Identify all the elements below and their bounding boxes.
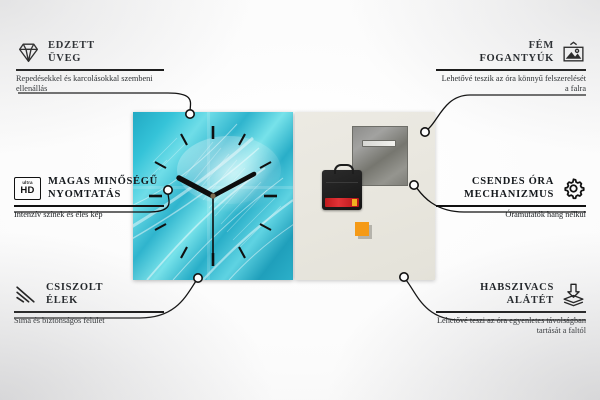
feature-description: Lehetővé teszik az óra könnyű felszerelé… bbox=[436, 74, 586, 95]
feature-description: Intenzív színek és éles kép bbox=[14, 210, 164, 221]
mechanism-hook bbox=[334, 164, 354, 174]
feature-title-line2: ALÁTÉT bbox=[480, 295, 554, 308]
feature-rule bbox=[14, 205, 164, 207]
polished-edges-icon bbox=[14, 282, 39, 307]
feature-foam-pad: HABSZIVACS ALÁTÉT Lehetővé teszi az óra … bbox=[436, 282, 586, 337]
diamond-icon bbox=[16, 40, 41, 65]
feature-description: Lehetővé teszi az óra egyenletes távolsá… bbox=[436, 316, 586, 337]
feature-description: Repedésekkel és karcolásokkal szembeni e… bbox=[16, 74, 164, 95]
feature-rule bbox=[16, 69, 164, 71]
mechanism-seam bbox=[326, 182, 358, 183]
hanger-slot bbox=[362, 140, 396, 147]
feature-title-line2: ÉLEK bbox=[46, 295, 103, 308]
foam-pad bbox=[355, 222, 369, 236]
feature-title-line2: NYOMTATÁS bbox=[48, 189, 158, 202]
hd-icon-big-text: HD bbox=[20, 186, 34, 196]
feature-title-line2: ÜVEG bbox=[48, 53, 95, 66]
clock-mechanism bbox=[322, 170, 362, 210]
feature-rule bbox=[436, 311, 586, 313]
ultra-hd-icon: ultra HD bbox=[14, 177, 41, 200]
feature-title-line1: HABSZIVACS bbox=[480, 282, 554, 295]
gear-icon bbox=[561, 176, 586, 201]
feature-description: Óramutatók hang nélkül bbox=[436, 210, 586, 221]
product-photo-group bbox=[133, 112, 435, 280]
feature-title-line1: CSENDES ÓRA bbox=[464, 176, 554, 189]
feature-title-line2: FOGANTYÚK bbox=[479, 53, 554, 66]
clock-back-photo bbox=[295, 112, 435, 280]
battery-terminal bbox=[352, 199, 357, 206]
feature-title-line1: MAGAS MINŐSÉGŰ bbox=[48, 176, 158, 189]
feature-tempered-glass: EDZETT ÜVEG Repedésekkel és karcolásokka… bbox=[16, 40, 164, 95]
infographic-canvas: EDZETT ÜVEG Repedésekkel és karcolásokka… bbox=[0, 0, 600, 400]
feature-silent-mechanism: CSENDES ÓRA MECHANIZMUS Óramutatók hang … bbox=[436, 176, 586, 220]
battery bbox=[325, 198, 359, 207]
feature-rule bbox=[436, 205, 586, 207]
feature-metal-handles: FÉM FOGANTYÚK Lehetővé teszik az óra kön… bbox=[436, 40, 586, 95]
feature-polished-edges: CSISZOLT ÉLEK Sima és biztonságos felüle… bbox=[14, 282, 164, 326]
feature-title-line1: CSISZOLT bbox=[46, 282, 103, 295]
feature-rule bbox=[436, 69, 586, 71]
feature-rule bbox=[14, 311, 164, 313]
feature-title-line1: FÉM bbox=[479, 40, 554, 53]
feature-title-line2: MECHANIZMUS bbox=[464, 189, 554, 202]
foam-pad-icon bbox=[561, 282, 586, 307]
picture-hanger-icon bbox=[561, 40, 586, 65]
feature-description: Sima és biztonságos felület bbox=[14, 316, 164, 327]
feature-title-line1: EDZETT bbox=[48, 40, 95, 53]
feature-high-quality-print: ultra HD MAGAS MINŐSÉGŰ NYOMTATÁS Intenz… bbox=[14, 176, 164, 220]
